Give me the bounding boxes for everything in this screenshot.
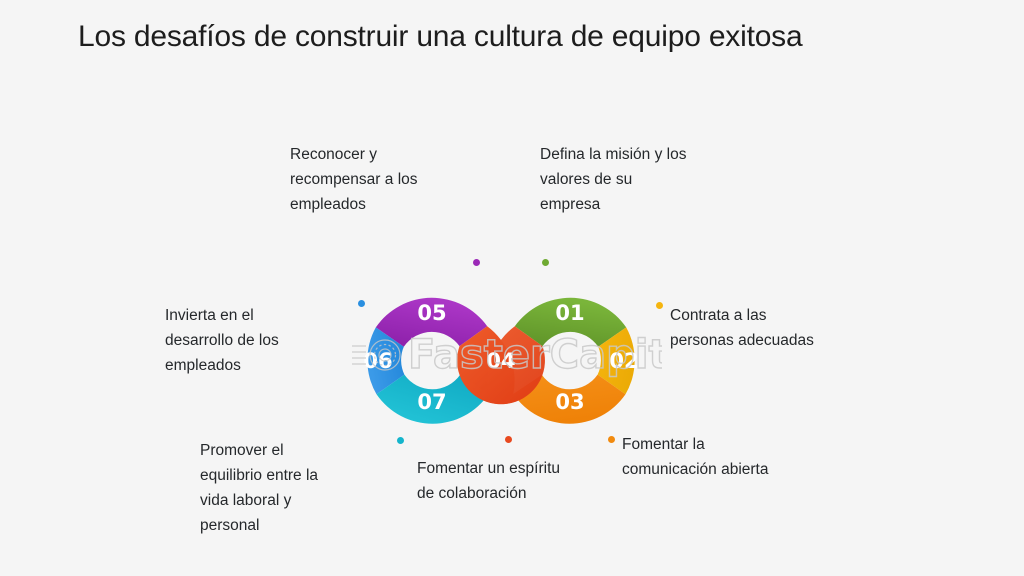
segment-number-04: 04 [486, 349, 515, 373]
segment-number-07: 07 [417, 390, 446, 414]
segment-number-01: 01 [555, 301, 584, 325]
slide-canvas: Los desafíos de construir una cultura de… [0, 0, 1024, 576]
label-line: recompensar a los [290, 167, 475, 192]
page-title: Los desafíos de construir una cultura de… [78, 20, 802, 54]
label-line: personal [200, 513, 360, 538]
label-define-mission: Defina la misión y los valores de su emp… [540, 142, 740, 217]
label-line: comunicación abierta [622, 457, 822, 482]
label-line: equilibrio entre la [200, 463, 360, 488]
label-line: Fomentar la [622, 432, 822, 457]
label-hire-right-people: Contrata a las personas adecuadas [670, 303, 865, 353]
dot-amber [656, 302, 663, 309]
label-open-communication: Fomentar la comunicación abierta [622, 432, 822, 482]
label-line: vida laboral y [200, 488, 360, 513]
label-line: desarrollo de los [165, 328, 340, 353]
label-invest-development: Invierta en el desarrollo de los emplead… [165, 303, 340, 378]
label-line: valores de su [540, 167, 740, 192]
label-line: empresa [540, 192, 740, 217]
label-line: Reconocer y [290, 142, 475, 167]
label-line: de colaboración [417, 481, 612, 506]
label-line: Contrata a las [670, 303, 865, 328]
segment-number-06: 06 [363, 349, 392, 373]
segment-number-03: 03 [555, 390, 584, 414]
label-foster-collaboration: Fomentar un espíritu de colaboración [417, 456, 612, 506]
segment-number-02: 02 [609, 349, 638, 373]
label-line: empleados [290, 192, 475, 217]
infinity-loop-diagram: 05 06 07 04 01 02 03 [330, 258, 650, 463]
label-line: Defina la misión y los [540, 142, 740, 167]
label-line: personas adecuadas [670, 328, 865, 353]
label-line: Invierta en el [165, 303, 340, 328]
segment-number-05: 05 [417, 301, 446, 325]
label-recognize-reward: Reconocer y recompensar a los empleados [290, 142, 475, 217]
label-line: empleados [165, 353, 340, 378]
